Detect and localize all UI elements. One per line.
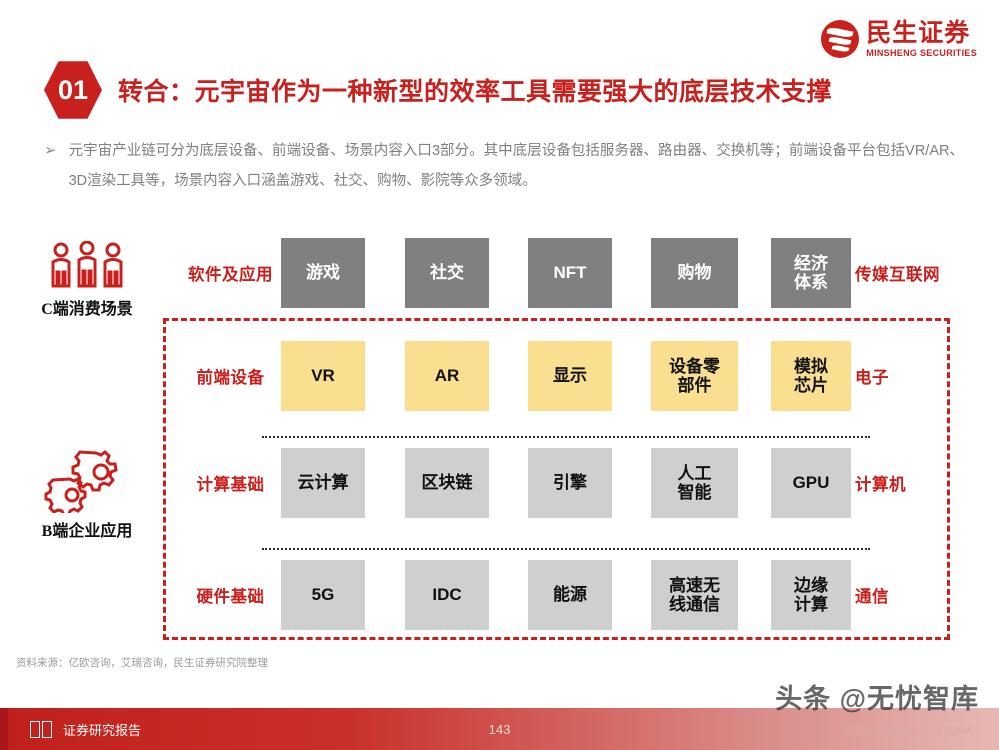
body-paragraph-block: ➢ 元宇宙产业链可分为底层设备、前端设备、场景内容入口3部分。其中底层设备包括服… [44, 136, 964, 196]
diagram-row-frontend: 前端设备 VR AR 显示 设备零 部件 模拟 芯片 电子 [0, 341, 999, 411]
industry-chain-diagram: 软件及应用 游戏 社交 NFT 购物 经济 体系 传媒互联网 前端设备 VR A… [0, 228, 999, 658]
row-right-label: 计算机 [855, 448, 955, 518]
row-separator-2 [262, 548, 870, 550]
diagram-cell[interactable]: 显示 [528, 341, 612, 411]
page-title: 转合：元宇宙作为一种新型的效率工具需要强大的底层技术支撑 [118, 72, 832, 108]
diagram-cell[interactable]: 游戏 [281, 238, 365, 308]
diagram-cell[interactable]: 云计算 [281, 448, 365, 518]
diagram-cell[interactable]: IDC [405, 560, 489, 630]
logo-name-en: MINSHENG SECURITIES [866, 49, 977, 58]
diagram-cell[interactable]: 社交 [405, 238, 489, 308]
diagram-row-software: 软件及应用 游戏 社交 NFT 购物 经济 体系 传媒互联网 [0, 238, 999, 308]
logo-name-cn: 民生证券 [866, 21, 977, 46]
diagram-row-compute: 计算基础 云计算 区块链 引擎 人工 智能 GPU 计算机 [0, 448, 999, 518]
diagram-cell[interactable]: 模拟 芯片 [771, 341, 851, 411]
logo-text: 民生证券 MINSHENG SECURITIES [866, 21, 977, 58]
diagram-cell[interactable]: 引擎 [528, 448, 612, 518]
row-left-label: 前端设备 [183, 341, 278, 411]
row-right-label: 传媒互联网 [855, 238, 955, 308]
footer-bar: 证券研究报告 143 请务必阅读最后一页免责声明 [0, 708, 999, 750]
row-left-label: 计算基础 [183, 448, 278, 518]
diagram-cell[interactable]: NFT [528, 238, 612, 308]
diagram-cell[interactable]: 设备零 部件 [651, 341, 738, 411]
diagram-cell[interactable]: 高速无 线通信 [651, 560, 738, 630]
section-number-badge: 01 [44, 60, 102, 120]
body-paragraph: 元宇宙产业链可分为底层设备、前端设备、场景内容入口3部分。其中底层设备包括服务器… [69, 136, 964, 196]
row-right-label: 电子 [855, 341, 955, 411]
diagram-cell[interactable]: 区块链 [405, 448, 489, 518]
row-right-label: 通信 [855, 560, 955, 630]
diagram-cell[interactable]: VR [281, 341, 365, 411]
diagram-cell[interactable]: 购物 [651, 238, 738, 308]
diagram-row-hardware: 硬件基础 5G IDC 能源 高速无 线通信 边缘 计算 通信 [0, 560, 999, 630]
slide-root: 民生证券 MINSHENG SECURITIES 01 转合：元宇宙作为一种新型… [0, 0, 999, 750]
diagram-cell[interactable]: 能源 [528, 560, 612, 630]
slide-title-row: 01 转合：元宇宙作为一种新型的效率工具需要强大的底层技术支撑 [44, 60, 832, 120]
diagram-cell[interactable]: GPU [771, 448, 851, 518]
row-separator-1 [262, 436, 870, 438]
company-logo: 民生证券 MINSHENG SECURITIES [821, 20, 977, 58]
row-left-label: 软件及应用 [183, 238, 278, 308]
minsheng-swoosh-icon [821, 20, 859, 58]
disclaimer-text: 请务必阅读最后一页免责声明 [843, 723, 973, 738]
diagram-cell[interactable]: AR [405, 341, 489, 411]
row-left-label: 硬件基础 [183, 560, 278, 630]
diagram-cell[interactable]: 边缘 计算 [771, 560, 851, 630]
bullet-arrow-icon: ➢ [44, 136, 57, 196]
diagram-cell[interactable]: 5G [281, 560, 365, 630]
diagram-cell[interactable]: 人工 智能 [651, 448, 738, 518]
source-note: 资料来源：亿欧咨询，艾瑞咨询，民生证券研究院整理 [16, 655, 268, 670]
diagram-cell[interactable]: 经济 体系 [771, 238, 851, 308]
